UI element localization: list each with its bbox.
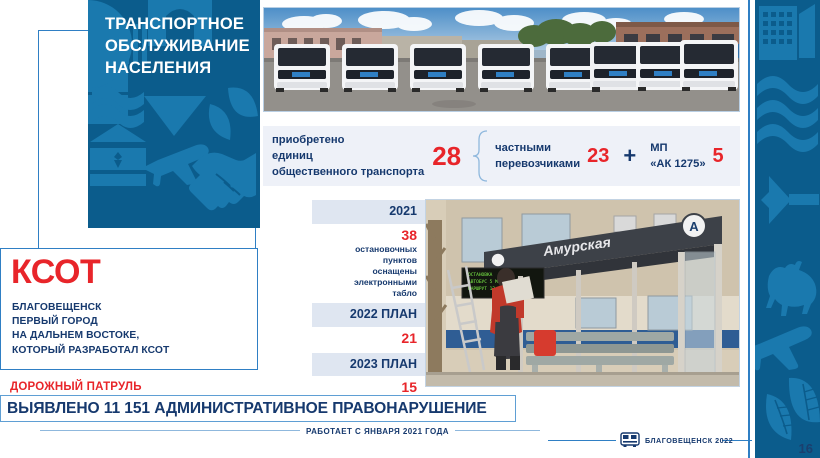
strip-accent-line (748, 0, 750, 458)
svg-text:МАРШРУТ 12: МАРШРУТ 12 (468, 286, 495, 292)
patrol-banner: ВЫЯВЛЕНО 11 151 АДМИНИСТРАТИВНОЕ ПРАВОНА… (0, 395, 516, 422)
footer-rule-left (548, 440, 616, 441)
svg-text:ОСТАНОВКА: ОСТАНОВКА (468, 272, 493, 278)
purchased-total-group: приобретено единиц общественного транспо… (263, 132, 461, 181)
patrol-note: РАБОТАЕТ С ЯНВАРЯ 2021 ГОДА (300, 427, 455, 436)
ksot-block: КСОТ БЛАГОВЕЩЕНСК ПЕРВЫЙ ГОРОД НА ДАЛЬНЕ… (0, 248, 258, 370)
private-carriers-label: частными перевозчиками (495, 140, 580, 172)
stops-row-year-1: 2022 ПЛАН (312, 303, 425, 327)
stops-year-table: 2021 38 остановочных пунктов оснащены эл… (312, 200, 425, 397)
mp-ak1275-label: МП «АК 1275» (650, 140, 705, 172)
right-decor-icons (755, 0, 820, 458)
busstop-photo-illustration: Амурская A ОСТАНОВКА АВТОБУС 5 МИН МАРШР… (426, 200, 740, 387)
right-decor-strip: 16 (755, 0, 820, 458)
private-carriers-value: 23 (587, 145, 609, 168)
bus-logo-icon (620, 432, 640, 448)
stops-row-year-2: 2023 ПЛАН (312, 353, 425, 377)
page-number: 16 (799, 441, 813, 456)
patrol-label: ДОРОЖНЫЙ ПАТРУЛЬ (10, 381, 142, 393)
private-carriers-cell: частными перевозчиками 23 (495, 140, 609, 172)
footer-logo: БЛАГОВЕЩЕНСК 2022 (620, 432, 733, 448)
mp-ak1275-value: 5 (713, 145, 724, 168)
stops-row-note-0: остановочных пунктов оснащены электронны… (312, 244, 425, 303)
buses-photo-illustration (264, 8, 740, 112)
stops-row-year-0: 2021 (312, 200, 425, 224)
plus-sign: + (619, 143, 640, 169)
buses-photo (263, 7, 740, 112)
patrol-headline: ВЫЯВЛЕНО 11 151 АДМИНИСТРАТИВНОЕ ПРАВОНА… (1, 400, 487, 418)
brace-divider-icon (471, 130, 491, 182)
stops-row-value-0: 38 (312, 224, 425, 245)
purchase-stats-strip: приобретено единиц общественного транспо… (263, 126, 740, 186)
stops-row-value-1: 21 (312, 327, 425, 348)
slide-root: ТРАНСПОРТНОЕ ОБСЛУЖИВАНИЕ НАСЕЛЕНИЯ КСОТ… (0, 0, 820, 458)
purchased-label: приобретено единиц общественного транспо… (272, 132, 424, 181)
mp-ak1275-cell: МП «АК 1275» 5 (650, 140, 723, 172)
busstop-marker-text: A (689, 219, 699, 234)
ksot-acronym: КСОТ (11, 255, 100, 289)
purchased-value: 28 (432, 143, 461, 169)
footer-brand: БЛАГОВЕЩЕНСК 2022 (645, 436, 733, 445)
page-title: ТРАНСПОРТНОЕ ОБСЛУЖИВАНИЕ НАСЕЛЕНИЯ (105, 14, 265, 79)
patrol-rule (40, 430, 540, 431)
purchase-breakdown-group: частными перевозчиками 23 + МП «АК 1275»… (495, 140, 724, 172)
busstop-photo: Амурская A ОСТАНОВКА АВТОБУС 5 МИН МАРШР… (425, 199, 740, 387)
ksot-subtitle: БЛАГОВЕЩЕНСК ПЕРВЫЙ ГОРОД НА ДАЛЬНЕМ ВОС… (12, 301, 169, 358)
